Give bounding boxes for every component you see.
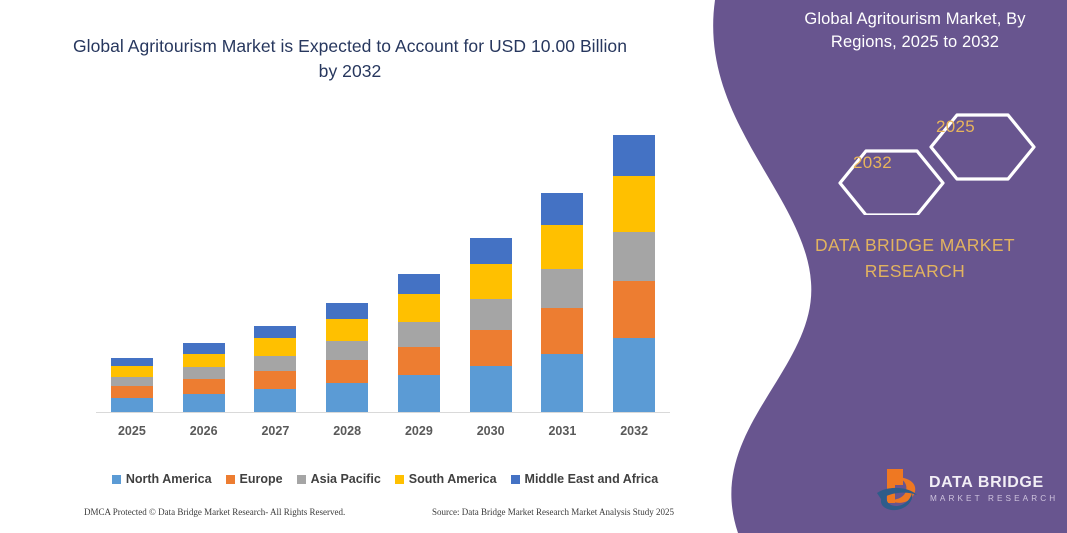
page-title: Global Agritourism Market is Expected to… [70, 34, 630, 85]
legend-label: Middle East and Africa [525, 472, 659, 486]
bar-segment [111, 386, 153, 397]
brand-panel-title: Global Agritourism Market, By Regions, 2… [773, 8, 1057, 55]
bar-segment [541, 193, 583, 225]
x-tick-2025: 2025 [96, 424, 168, 438]
legend-label: South America [409, 472, 497, 486]
bar-2029 [398, 274, 440, 412]
legend-swatch-icon [112, 475, 121, 484]
legend-item[interactable]: South America [395, 472, 497, 486]
legend-swatch-icon [511, 475, 520, 484]
bar-segment [183, 379, 225, 393]
x-tick-2030: 2030 [455, 424, 527, 438]
bar-segment [541, 308, 583, 354]
data-bridge-logo: DATA BRIDGE MARKET RESEARCH [873, 465, 1058, 513]
x-tick-2027: 2027 [239, 424, 311, 438]
chart-legend: North AmericaEuropeAsia PacificSouth Ame… [96, 472, 674, 486]
bar-segment [326, 383, 368, 412]
bar-segment [541, 354, 583, 412]
bar-segment [613, 338, 655, 412]
bar-segment [326, 341, 368, 361]
bar-segment [398, 347, 440, 376]
brand-panel-company-name: DATA BRIDGE MARKET RESEARCH [773, 232, 1057, 285]
x-axis-line [96, 412, 670, 413]
hexagon-badges: 2032 2025 [818, 95, 1067, 215]
bar-segment [541, 225, 583, 269]
bar-segment [183, 354, 225, 368]
bar-2031 [541, 193, 583, 412]
bar-segment [111, 377, 153, 387]
legend-swatch-icon [226, 475, 235, 484]
legend-label: North America [126, 472, 212, 486]
bar-segment [183, 367, 225, 379]
bar-segment [398, 274, 440, 294]
bar-segment [254, 371, 296, 389]
bar-segment [111, 358, 153, 366]
bar-2025 [111, 358, 153, 412]
dbmr-logo-icon: DATA BRIDGE MARKET RESEARCH [873, 465, 1058, 513]
bar-segment [254, 326, 296, 339]
bar-segment [111, 398, 153, 412]
bar-segment [254, 389, 296, 412]
footer-source: Source: Data Bridge Market Research Mark… [432, 507, 676, 517]
bar-segment [541, 269, 583, 308]
hexagon-label-2025: 2025 [936, 117, 975, 137]
bar-segment [326, 319, 368, 341]
bar-segment [183, 394, 225, 412]
legend-item[interactable]: Europe [226, 472, 283, 486]
legend-item[interactable]: North America [112, 472, 212, 486]
bar-2030 [470, 238, 512, 412]
bar-segment [613, 135, 655, 176]
bar-segment [254, 356, 296, 371]
bar-segment [326, 360, 368, 383]
bar-2032 [613, 135, 655, 412]
legend-item[interactable]: Middle East and Africa [511, 472, 659, 486]
bar-segment [398, 322, 440, 347]
x-tick-2031: 2031 [526, 424, 598, 438]
bar-segment [183, 343, 225, 353]
bar-segment [470, 366, 512, 412]
bar-segment [613, 281, 655, 338]
bar-segment [326, 303, 368, 319]
bar-2026 [183, 343, 225, 412]
brand-panel: Global Agritourism Market, By Regions, 2… [693, 0, 1067, 533]
bar-segment [254, 338, 296, 355]
bar-segment [470, 299, 512, 330]
bar-segment [398, 375, 440, 412]
bar-segment [613, 232, 655, 281]
legend-label: Europe [240, 472, 283, 486]
legend-swatch-icon [297, 475, 306, 484]
bar-segment [470, 264, 512, 299]
x-tick-2029: 2029 [383, 424, 455, 438]
svg-text:MARKET RESEARCH: MARKET RESEARCH [930, 494, 1058, 503]
stacked-bar-chart [96, 120, 670, 413]
legend-item[interactable]: Asia Pacific [297, 472, 381, 486]
hexagon-label-2032: 2032 [853, 153, 892, 173]
legend-label: Asia Pacific [311, 472, 381, 486]
x-tick-2032: 2032 [598, 424, 670, 438]
bar-2027 [254, 326, 296, 412]
footer-copyright: DMCA Protected © Data Bridge Market Rese… [84, 507, 345, 517]
bar-segment [470, 238, 512, 264]
x-tick-2028: 2028 [311, 424, 383, 438]
footer: DMCA Protected © Data Bridge Market Rese… [84, 507, 676, 517]
x-tick-2026: 2026 [168, 424, 240, 438]
svg-text:DATA BRIDGE: DATA BRIDGE [929, 474, 1044, 491]
infographic-canvas: Global Agritourism Market is Expected to… [0, 0, 1067, 533]
bar-segment [613, 176, 655, 232]
bar-segment [398, 294, 440, 322]
bar-2028 [326, 303, 368, 412]
legend-swatch-icon [395, 475, 404, 484]
bar-segment [111, 366, 153, 377]
bar-segment [470, 330, 512, 366]
x-axis-tick-labels: 20252026202720282029203020312032 [96, 424, 670, 444]
